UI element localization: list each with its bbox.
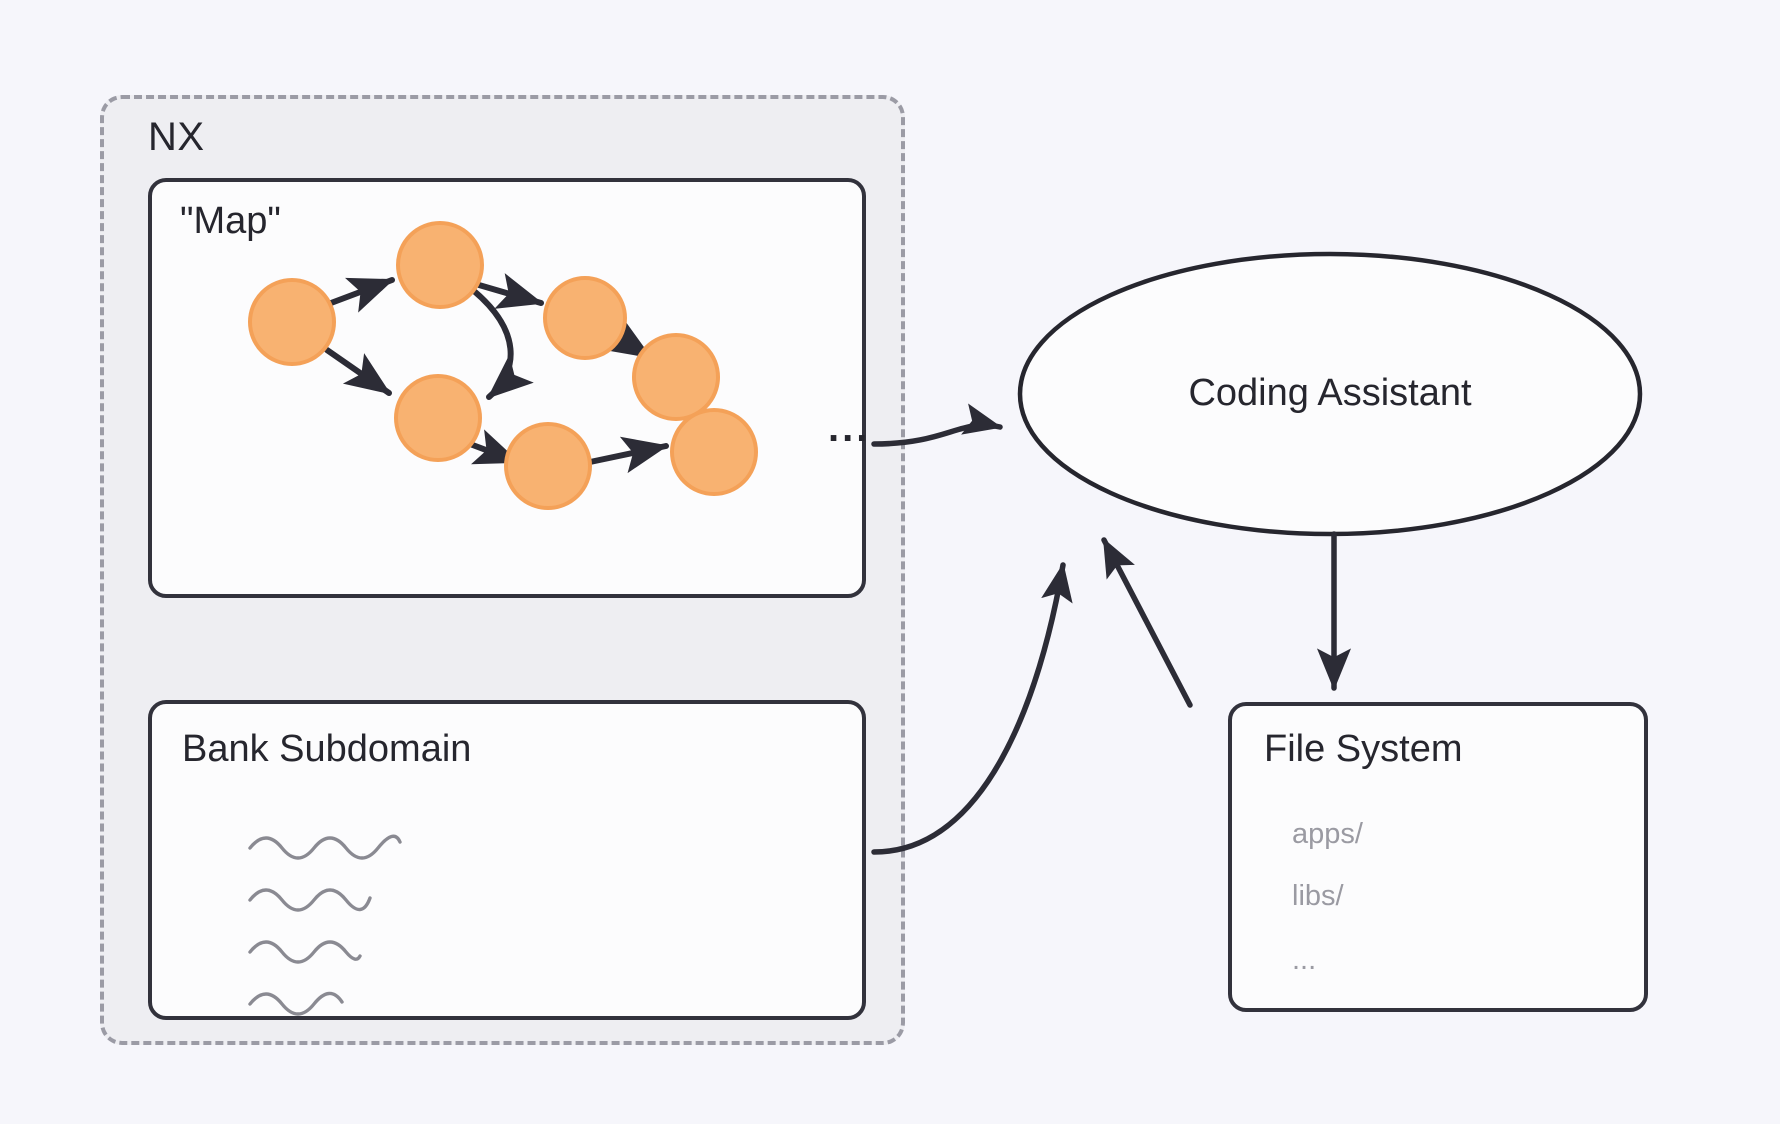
graph-node[interactable] <box>506 424 590 508</box>
diagram-canvas: NX "Map" Bank Subdomain File System apps… <box>0 0 1780 1124</box>
map-graph-nodes <box>250 223 756 508</box>
squiggle-line <box>250 836 400 858</box>
map-graph-ellipsis: ... <box>828 408 870 448</box>
connector-map-to-assistant <box>874 425 1000 444</box>
edge-n6-n7 <box>590 446 666 462</box>
graph-node[interactable] <box>672 410 756 494</box>
connector-bank-to-assistant <box>874 565 1063 852</box>
edge-n1-n2 <box>331 280 392 303</box>
edge-n1-n4 <box>327 350 389 393</box>
bank-subdomain-squiggles <box>250 836 400 1014</box>
squiggle-line <box>250 890 370 910</box>
graph-node[interactable] <box>634 335 718 419</box>
graph-node[interactable] <box>396 376 480 460</box>
coding-assistant-label: Coding Assistant <box>1030 372 1630 415</box>
squiggle-line <box>250 993 342 1014</box>
diagram-graphics-layer <box>0 0 1780 1124</box>
graph-node[interactable] <box>545 278 625 358</box>
edge-n2-n4-curved <box>474 291 511 397</box>
graph-node[interactable] <box>398 223 482 307</box>
connector-extra-to-assistant <box>1104 540 1190 705</box>
graph-node[interactable] <box>250 280 334 364</box>
squiggle-line <box>250 942 360 962</box>
